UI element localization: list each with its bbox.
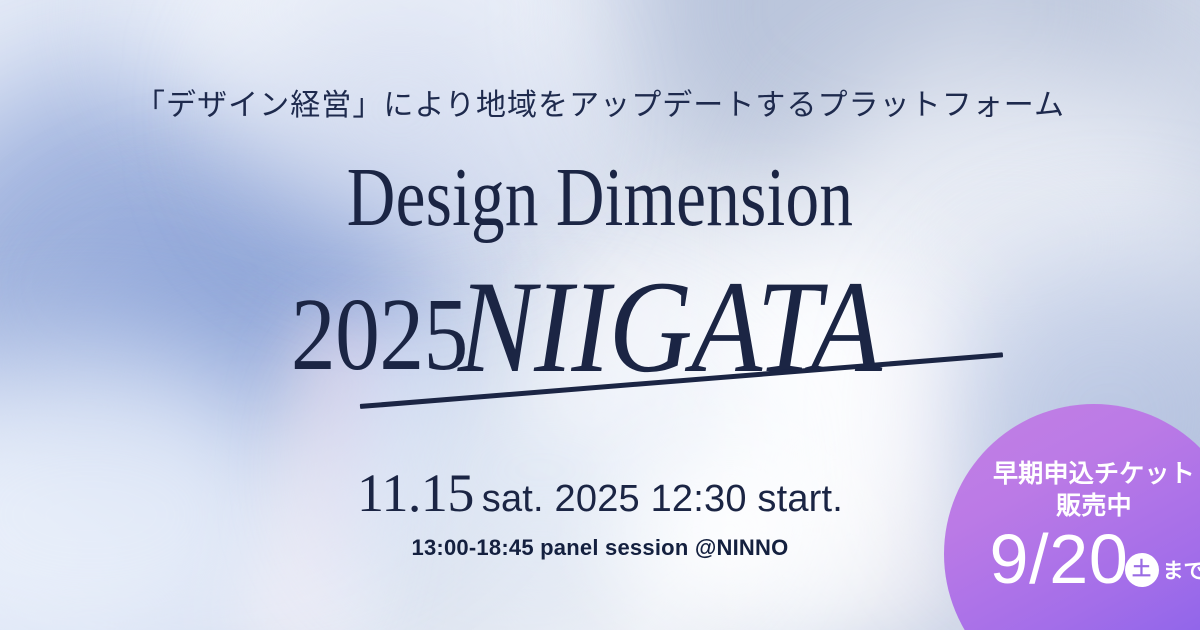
badge-until-label: まで bbox=[1163, 555, 1200, 585]
event-key-visual: 「デザイン経営」により地域をアップデートするプラットフォーム Design Di… bbox=[0, 0, 1200, 630]
badge-headline: 早期申込チケット bbox=[944, 460, 1200, 490]
badge-deadline-date: 9/20 bbox=[989, 526, 1128, 593]
badge-deadline-row: 9/20 土 まで bbox=[944, 526, 1200, 593]
badge-day-of-week: 土 bbox=[1125, 553, 1159, 587]
badge-subheadline: 販売中 bbox=[944, 490, 1200, 523]
event-city: NIIGATA bbox=[458, 261, 881, 393]
event-date: 11.15 bbox=[357, 463, 474, 523]
event-date-details: sat. 2025 12:30 start. bbox=[482, 478, 843, 520]
early-bird-ticket-badge[interactable]: 早期申込チケット 販売中 9/20 土 まで bbox=[944, 404, 1200, 630]
event-title: Design Dimension bbox=[120, 156, 1080, 240]
event-year: 2025 bbox=[291, 283, 468, 387]
tagline: 「デザイン経営」により地域をアップデートするプラットフォーム bbox=[0, 80, 1200, 124]
event-title-secondary: 2025NIIGATA bbox=[0, 255, 1200, 387]
poster-content: 「デザイン経営」により地域をアップデートするプラットフォーム Design Di… bbox=[0, 0, 1200, 630]
badge-content: 早期申込チケット 販売中 9/20 土 まで bbox=[944, 404, 1200, 630]
